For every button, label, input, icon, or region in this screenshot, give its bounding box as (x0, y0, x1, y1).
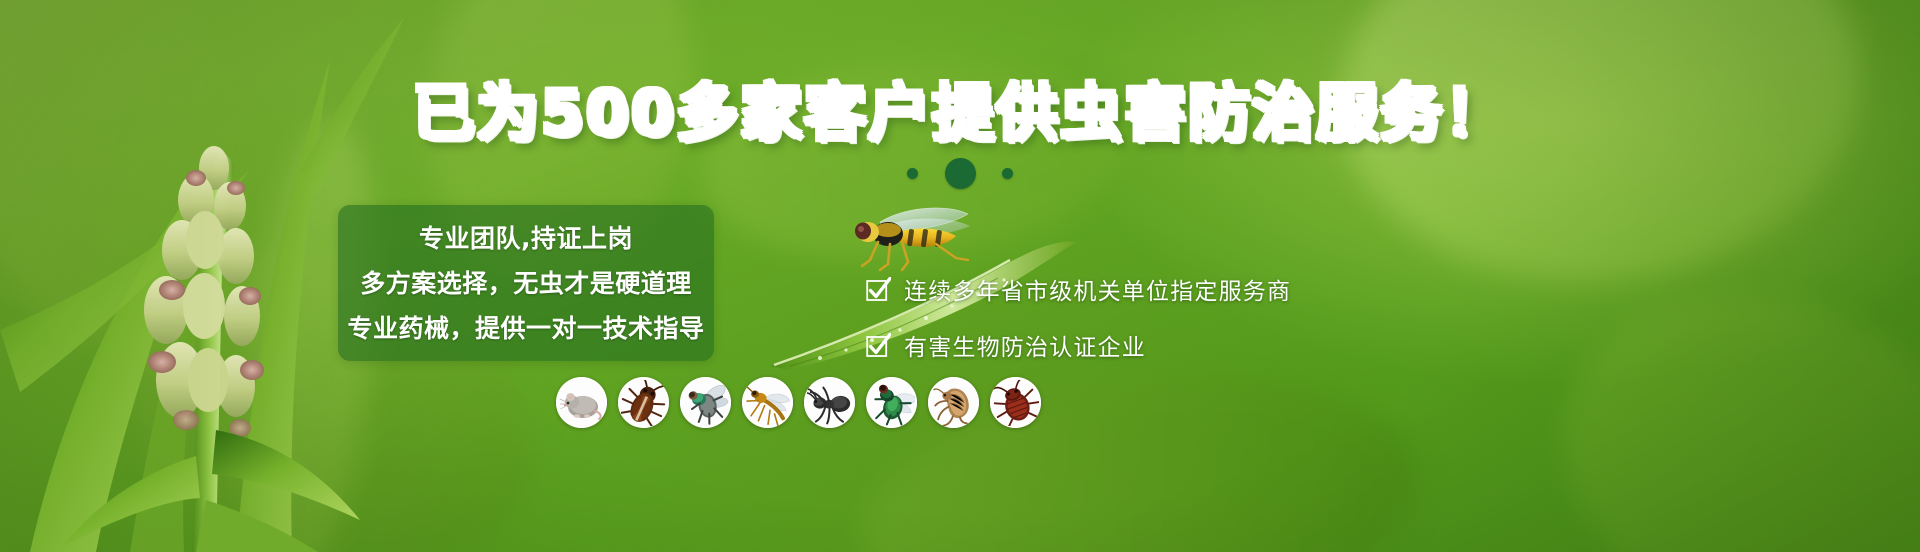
checklist-item: 有害生物防治认证企业 (866, 328, 1291, 362)
mosquito-icon[interactable] (742, 377, 793, 428)
dot-small-icon (1002, 168, 1013, 179)
credentials-checklist: 连续多年省市级机关单位指定服务商 有害生物防治认证企业 (866, 272, 1291, 384)
dot-large-icon (945, 158, 976, 189)
mouse-icon[interactable] (556, 377, 607, 428)
banner-headline: 已为500多家客户提供虫害防治服务！ (0, 78, 1920, 148)
ant-icon[interactable] (804, 377, 855, 428)
feature-line-1: 专业团队,持证上岗 (419, 219, 633, 255)
greenbottle-fly-icon[interactable] (866, 377, 917, 428)
pest-control-banner: 已为500多家客户提供虫害防治服务！ 专业团队,持证上岗 多方案选择，无虫才是硬… (0, 0, 1920, 552)
pest-types-row (556, 377, 1041, 428)
checklist-item-label: 连续多年省市级机关单位指定服务商 (904, 272, 1291, 306)
checkbox-checked-icon (866, 333, 891, 358)
housefly-icon[interactable] (680, 377, 731, 428)
cockroach-icon[interactable] (618, 377, 669, 428)
checklist-item: 连续多年省市级机关单位指定服务商 (866, 272, 1291, 306)
dot-small-icon (907, 168, 918, 179)
checklist-item-label: 有害生物防治认证企业 (904, 328, 1146, 362)
flea-icon[interactable] (928, 377, 979, 428)
features-panel-text: 专业团队,持证上岗 多方案选择，无虫才是硬道理 专业药械，提供一对一技术指导 (338, 205, 714, 361)
headline-text: 已为500多家客户提供虫害防治服务！ (412, 76, 1507, 149)
decor-dots (0, 158, 1920, 189)
feature-line-3: 专业药械，提供一对一技术指导 (347, 309, 704, 345)
feature-line-2: 多方案选择，无虫才是硬道理 (360, 264, 692, 300)
bedbug-icon[interactable] (990, 377, 1041, 428)
checkbox-checked-icon (866, 277, 891, 302)
